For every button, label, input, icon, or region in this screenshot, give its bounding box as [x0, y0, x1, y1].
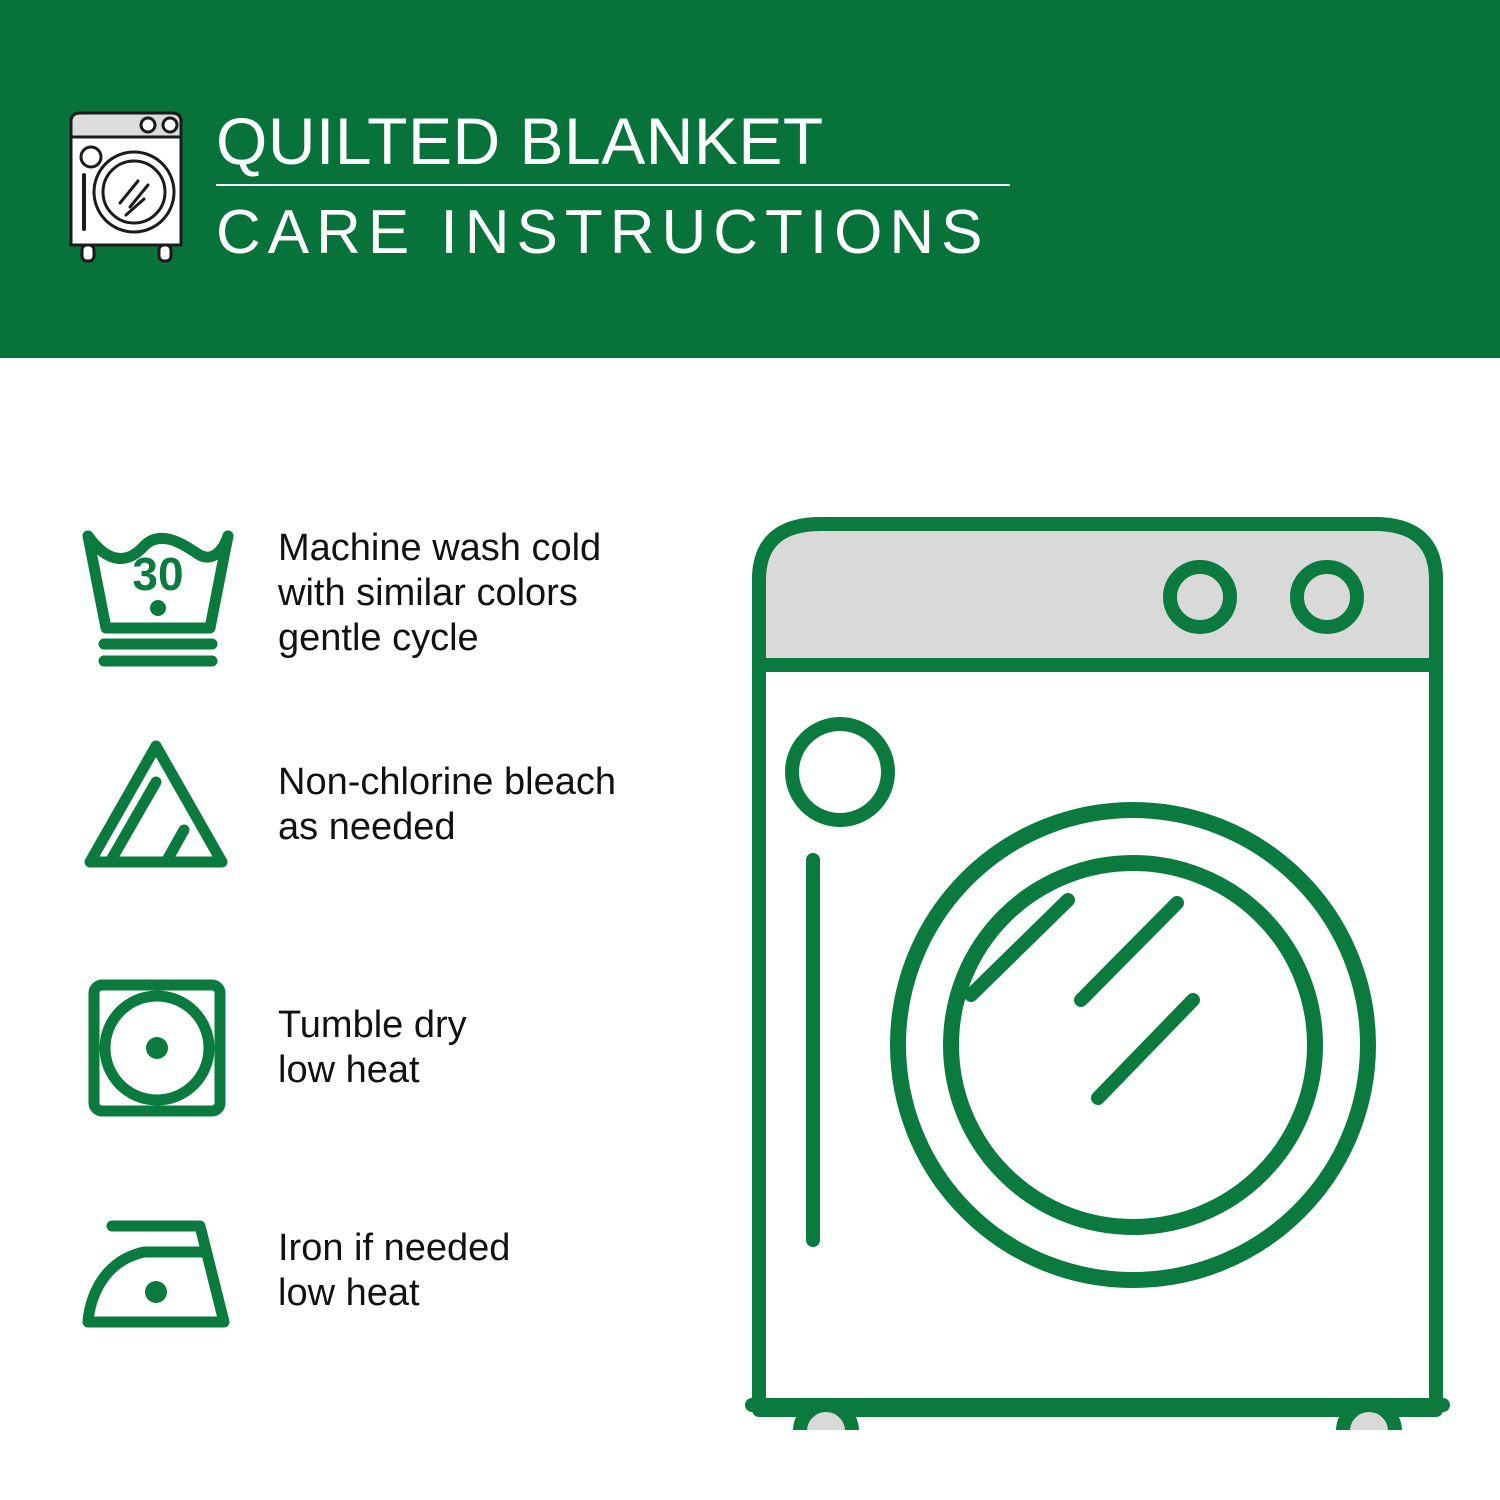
care-line: gentle cycle [278, 616, 601, 661]
header-banner: QUILTED BLANKET CARE INSTRUCTIONS [0, 0, 1500, 358]
washer-knob [1297, 567, 1357, 627]
page-subtitle: CARE INSTRUCTIONS [216, 198, 1036, 268]
washer-knob [1170, 567, 1230, 627]
header-title-block: QUILTED BLANKET CARE INSTRUCTIONS [216, 104, 1036, 268]
washer-indicator-light [792, 724, 888, 820]
care-text-bleach: Non-chlorine bleach as needed [278, 760, 616, 850]
wash-temperature-label: 30 [132, 548, 183, 600]
care-line: Tumble dry [278, 1003, 467, 1048]
care-instruction-list: 30 Machine wash cold with similar colors… [0, 358, 740, 1500]
care-row-tumble-dry: Tumble dry low heat [74, 973, 714, 1123]
care-row-bleach: Non-chlorine bleach as needed [74, 730, 714, 880]
washing-machine-logo-icon [62, 107, 192, 267]
care-line: low heat [278, 1271, 510, 1316]
washer-drum-inner [951, 863, 1315, 1227]
care-text-iron: Iron if needed low heat [278, 1226, 510, 1316]
care-row-machine-wash: 30 Machine wash cold with similar colors… [74, 518, 714, 668]
non-chlorine-bleach-triangle-icon [74, 730, 242, 880]
page-title: QUILTED BLANKET [216, 104, 1036, 178]
care-line: low heat [278, 1048, 467, 1093]
front-load-washing-machine-illustration [745, 500, 1450, 1430]
iron-low-heat-icon [74, 1196, 242, 1346]
title-divider [216, 184, 1010, 186]
care-line: Machine wash cold [278, 526, 601, 571]
care-line: Non-chlorine bleach [278, 760, 616, 805]
wash-tub-30-gentle-icon: 30 [74, 518, 242, 668]
care-text-tumble-dry: Tumble dry low heat [278, 1003, 467, 1093]
care-row-iron: Iron if needed low heat [74, 1196, 714, 1346]
care-instructions-poster: QUILTED BLANKET CARE INSTRUCTIONS 30 [0, 0, 1500, 1500]
tumble-dry-low-heat-icon [74, 973, 242, 1123]
care-line: Iron if needed [278, 1226, 510, 1271]
care-line: as needed [278, 805, 616, 850]
care-text-machine-wash: Machine wash cold with similar colors ge… [278, 526, 601, 661]
care-line: with similar colors [278, 571, 601, 616]
